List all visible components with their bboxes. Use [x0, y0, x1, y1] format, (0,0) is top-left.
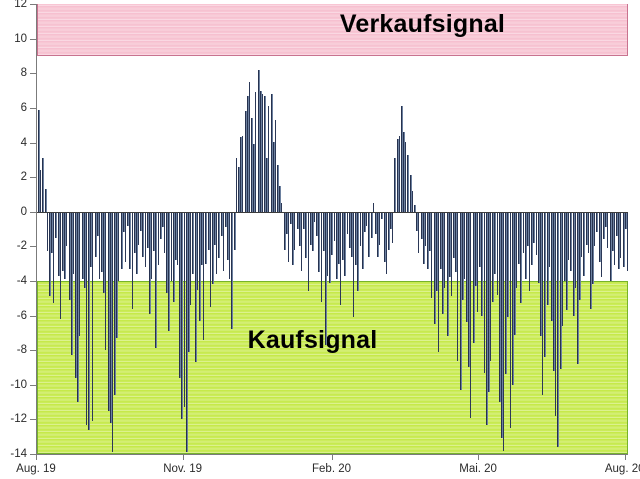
bar: [620, 212, 621, 259]
bar: [568, 212, 569, 260]
bar: [414, 205, 416, 212]
y-tick-label: 6: [21, 102, 27, 114]
bar: [425, 212, 426, 247]
bar: [301, 212, 302, 271]
bar: [249, 82, 250, 212]
bar: [47, 212, 48, 252]
bar: [601, 212, 602, 278]
x-tick-mark: [36, 455, 37, 460]
bar: [294, 212, 295, 250]
bar: [549, 212, 550, 267]
bar: [484, 212, 485, 373]
bar: [118, 212, 119, 281]
bar: [40, 170, 41, 212]
x-axis: Aug. 19Nov. 19Feb. 20Mai. 20Aug. 20: [0, 455, 640, 479]
x-tick-mark: [625, 455, 626, 460]
y-tick-label: 12: [14, 0, 27, 10]
bar: [79, 212, 80, 337]
bar: [451, 212, 452, 297]
y-axis: 121086420-2-4-6-8-10-12-14: [0, 0, 36, 479]
bar: [203, 212, 204, 340]
bar: [510, 212, 511, 428]
x-tick-label: Feb. 20: [312, 463, 351, 475]
bar: [516, 212, 517, 288]
bar: [158, 212, 159, 266]
bar: [99, 212, 100, 280]
bar: [73, 212, 74, 274]
bar: [386, 212, 387, 274]
bar: [614, 212, 615, 266]
plot-area: Verkaufsignal Kaufsignal: [36, 4, 628, 455]
bar: [281, 203, 282, 212]
x-tick-label: Nov. 19: [163, 463, 202, 475]
bar: [145, 212, 146, 267]
y-tick-label: -4: [17, 275, 27, 287]
bar: [438, 212, 439, 352]
bar: [399, 136, 400, 212]
bar: [151, 212, 152, 280]
bar: [132, 212, 133, 309]
bar: [53, 212, 54, 304]
bar: [255, 92, 256, 211]
bar: [347, 212, 348, 235]
bar: [242, 136, 243, 212]
bar: [542, 212, 543, 395]
bar: [405, 142, 406, 211]
bar: [353, 212, 354, 318]
x-tick-mark: [183, 455, 184, 460]
bar: [431, 212, 432, 299]
bar: [288, 212, 289, 262]
bar: [529, 212, 530, 292]
bar: [327, 212, 328, 276]
x-tick-mark: [332, 455, 333, 460]
bar: [197, 212, 198, 290]
bar: [125, 212, 126, 262]
bar: [373, 203, 374, 212]
bar: [627, 212, 628, 271]
bar: [314, 212, 315, 222]
bar: [216, 212, 217, 274]
bar: [45, 189, 47, 212]
bar: [360, 212, 361, 247]
x-tick-mark: [478, 455, 479, 460]
bar: [321, 212, 322, 302]
bar: [581, 212, 582, 257]
bar: [229, 212, 230, 280]
bar: [523, 212, 524, 254]
bar: [112, 212, 113, 453]
bar: [555, 212, 556, 416]
bar: [171, 212, 172, 281]
bar: [86, 212, 87, 425]
bar: [371, 212, 373, 238]
bar: [334, 212, 335, 241]
bar: [444, 212, 445, 288]
bar-series: [37, 4, 628, 454]
bar: [412, 191, 413, 212]
bar: [268, 106, 269, 212]
y-tick-label: -8: [17, 344, 27, 356]
zero-baseline: [37, 212, 628, 213]
bar: [477, 212, 478, 312]
bar: [457, 212, 458, 361]
bar: [138, 212, 139, 245]
bar: [340, 212, 341, 305]
y-tick-label: 0: [21, 206, 27, 218]
bar: [210, 212, 211, 307]
bar: [262, 94, 263, 212]
bar: [66, 212, 67, 247]
x-tick-label: Aug. 19: [16, 463, 56, 475]
bar: [490, 212, 491, 361]
y-tick-label: 8: [21, 67, 27, 79]
bar: [275, 120, 276, 212]
bar: [92, 212, 93, 421]
bar: [562, 212, 563, 326]
bar: [223, 212, 224, 271]
bar: [60, 212, 61, 319]
bar: [234, 212, 236, 250]
y-tick-label: -2: [17, 240, 27, 252]
y-tick-label: -10: [10, 379, 27, 391]
bar: [503, 212, 504, 451]
bar: [379, 212, 380, 245]
bar: [184, 212, 185, 408]
bar: [105, 212, 106, 350]
bar: [470, 212, 471, 418]
x-tick-label: Mai. 20: [459, 463, 497, 475]
bar: [536, 212, 537, 255]
x-tick-label: Aug. 20: [605, 463, 640, 475]
bar: [164, 212, 165, 254]
y-tick-label: 2: [21, 171, 27, 183]
y-tick-label: 4: [21, 137, 27, 149]
bar: [366, 212, 367, 226]
bar: [594, 212, 595, 247]
bar: [464, 212, 465, 280]
bar: [588, 212, 589, 254]
bar: [177, 212, 178, 266]
bar: [236, 158, 237, 212]
bar: [607, 212, 608, 248]
bar: [308, 212, 309, 292]
bar: [190, 212, 191, 305]
y-tick-label: -12: [10, 413, 27, 425]
y-tick-label: -6: [17, 310, 27, 322]
chart-root: 121086420-2-4-6-8-10-12-14 Verkaufsignal…: [0, 0, 640, 479]
bar: [418, 212, 419, 254]
bar: [575, 212, 576, 288]
bar: [392, 212, 393, 243]
y-tick-label: 10: [14, 33, 27, 45]
bar: [497, 212, 498, 295]
